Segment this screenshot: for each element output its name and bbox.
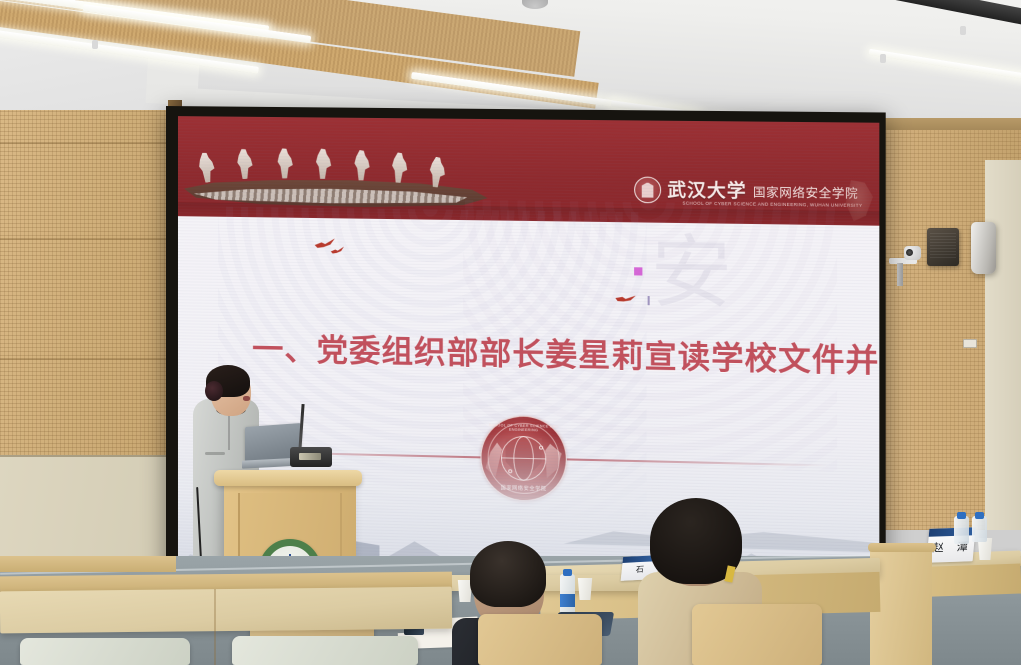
- rower-figure-icon: [390, 152, 408, 183]
- wall-speaker-light-icon: [971, 222, 996, 274]
- desk-end-panel-top: [868, 543, 936, 552]
- brand-university-name: 武汉大学: [667, 181, 746, 200]
- wall-outlet-icon: [963, 339, 977, 348]
- brand-school-name: 国家网络安全学院: [753, 183, 858, 202]
- bottle-label: [560, 594, 575, 607]
- speaker-mouth: [243, 396, 250, 401]
- water-bottle-icon: [972, 516, 987, 542]
- chair-back: [692, 604, 822, 665]
- bottle-cap: [563, 569, 572, 576]
- chair-back: [478, 614, 602, 665]
- desk-seam: [214, 589, 216, 665]
- rower-figure-icon: [427, 156, 446, 188]
- wall-panel-seam: [0, 238, 190, 240]
- desk-edge-left-upper: [0, 556, 176, 572]
- nameplate-text: 赵 潭: [932, 542, 969, 554]
- bottle-cap: [957, 512, 966, 519]
- watermark-character: 安: [651, 233, 732, 314]
- rower-figure-icon: [196, 151, 217, 183]
- wall-panel-seam: [0, 358, 190, 360]
- wuhan-university-crest-icon: [634, 177, 661, 204]
- sprinkler-head-icon: [92, 40, 98, 49]
- accent-tick: [648, 296, 650, 305]
- far-right-wall: [985, 160, 1021, 530]
- chair-back: [232, 636, 418, 665]
- rower-figure-icon: [315, 149, 332, 179]
- camera-lens-icon: [906, 249, 913, 256]
- wall-speaker-dark-icon: [927, 228, 959, 266]
- attendee-hair: [470, 541, 546, 607]
- speaker-hair-bun: [205, 381, 223, 401]
- microphone-display: [299, 453, 321, 460]
- rower-figure-icon: [235, 148, 254, 179]
- rower-figure-icon: [276, 148, 294, 179]
- sprinkler-head-icon: [960, 26, 966, 35]
- chair-back: [20, 638, 190, 665]
- bottle-cap: [975, 512, 984, 519]
- crest-gate-shape: [640, 182, 655, 197]
- speaker-jacket-zip: [228, 410, 230, 450]
- accent-square: [634, 267, 642, 275]
- water-bottle-icon: [954, 516, 969, 544]
- wall-panel-seam: [0, 142, 190, 144]
- podium-top-surface: [214, 470, 362, 486]
- sprinkler-head-icon: [880, 54, 886, 63]
- lecture-hall-photo: 武汉大学 国家网络安全学院 SCHOOL OF CYBER SCIENCE AN…: [0, 0, 1021, 665]
- camera-post: [897, 263, 903, 286]
- rower-figure-icon: [353, 150, 370, 180]
- desk-row-left-front: [0, 587, 452, 634]
- speaker-jacket-pocket: [205, 452, 225, 455]
